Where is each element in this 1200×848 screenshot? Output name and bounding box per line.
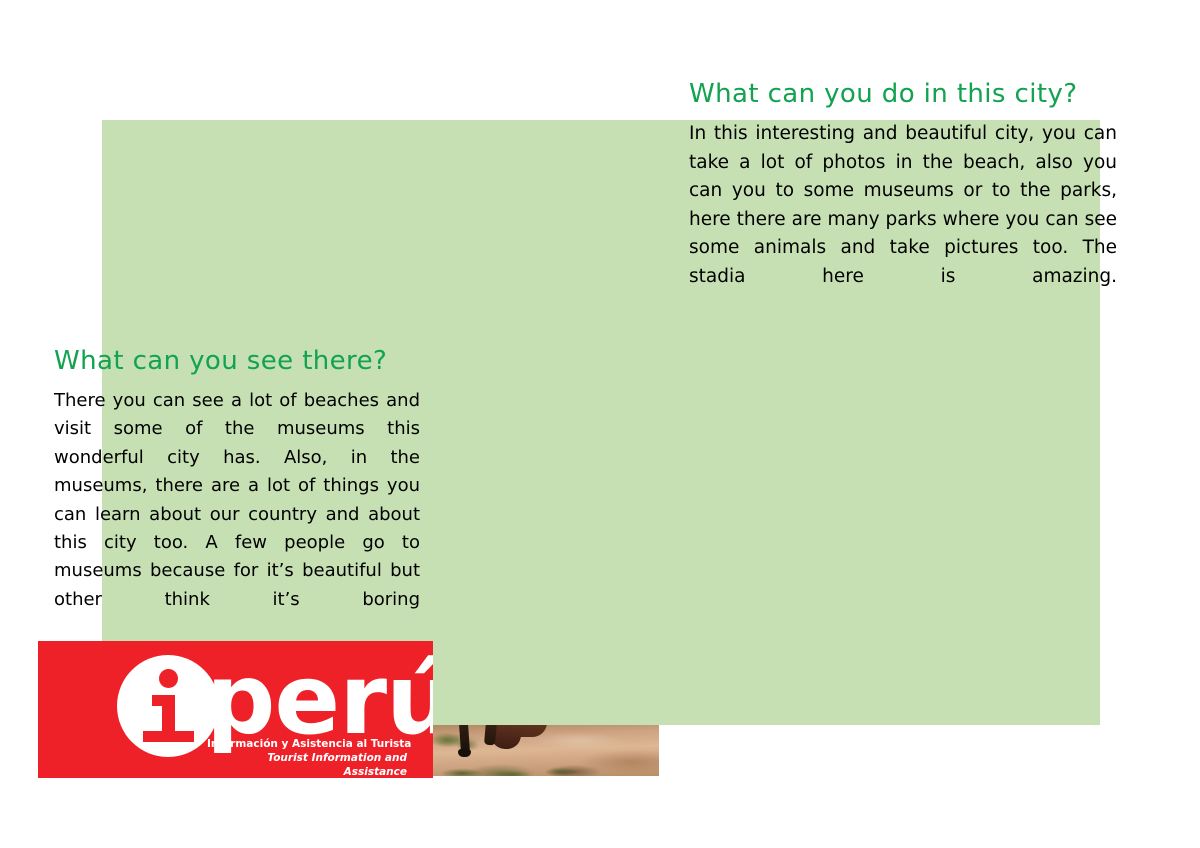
horse-hoof xyxy=(458,749,471,757)
left-section-heading: What can you see there? xyxy=(54,345,420,377)
grass-patch-bottom xyxy=(441,763,591,776)
slide-page: What can you do in this city? In this in… xyxy=(0,0,1200,848)
left-section-body: There you can see a lot of beaches and v… xyxy=(54,387,420,643)
logo-tagline-english: Tourist Information and Assistance xyxy=(201,751,421,778)
logo-tagline: Información y Asistencia al Turista Tour… xyxy=(201,737,421,778)
letter-i-dot xyxy=(159,669,178,688)
right-section-heading: What can you do in this city? xyxy=(689,78,1117,110)
logo-tagline-spanish: Información y Asistencia al Turista xyxy=(201,737,421,751)
dust-haze xyxy=(519,729,639,753)
left-text-column: What can you see there? There you can se… xyxy=(54,345,420,643)
right-section-body: In this interesting and beautiful city, … xyxy=(689,120,1117,320)
horse-leg-rear xyxy=(484,725,497,745)
iperu-logo: perú Información y Asistencia al Turista… xyxy=(38,641,433,778)
right-text-column: What can you do in this city? In this in… xyxy=(689,78,1117,320)
horse-trail-photo xyxy=(433,725,659,776)
letter-i-bottom-serif xyxy=(143,731,194,742)
grass-patch-left xyxy=(433,727,479,753)
